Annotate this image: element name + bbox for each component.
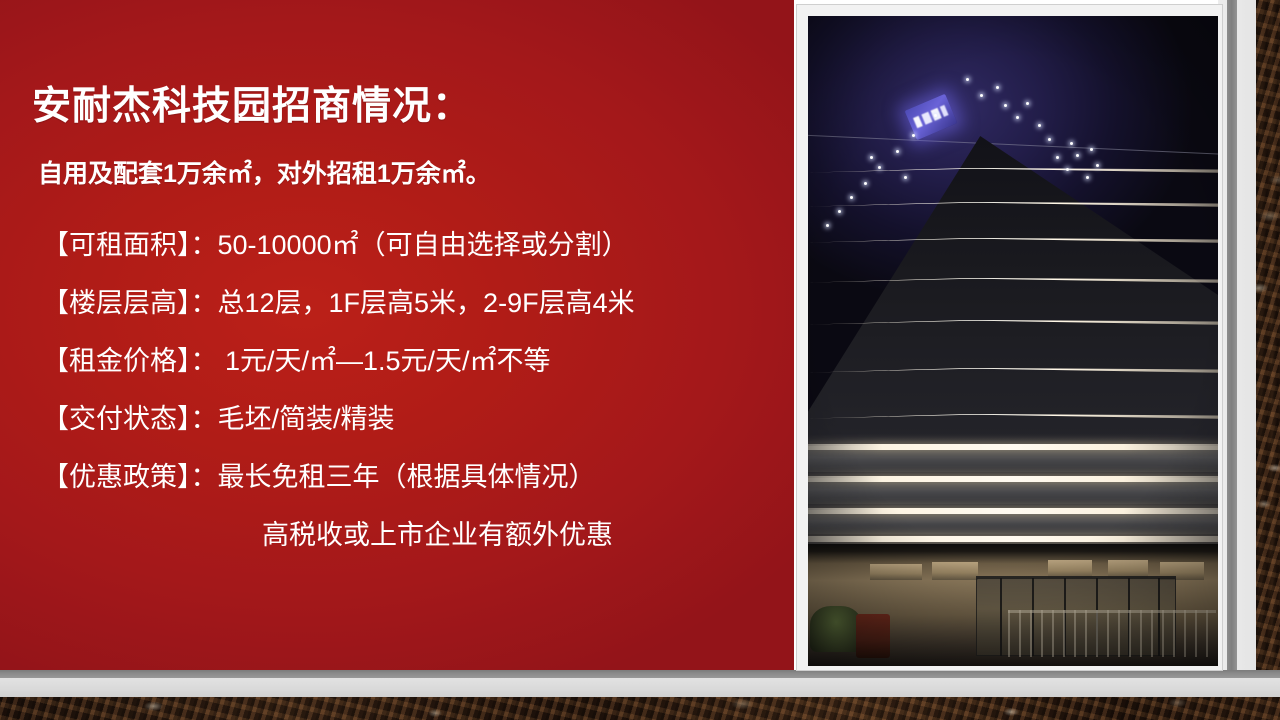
building-night-photo <box>808 16 1218 666</box>
red-content-panel: 安耐杰科技园招商情况： 自用及配套1万余㎡，对外招租1万余㎡。 【可租面积】：5… <box>0 0 794 670</box>
point-light <box>1056 156 1059 159</box>
led-strip <box>808 476 1218 482</box>
point-light <box>1004 104 1007 107</box>
point-light <box>1066 168 1069 171</box>
bottom-light-band <box>0 678 1280 697</box>
right-light-band <box>1218 0 1256 697</box>
list-item: 【租金价格】： 1元/天/㎡—1.5元/天/㎡不等 <box>42 332 782 390</box>
point-light <box>1038 124 1041 127</box>
point-light <box>912 134 915 137</box>
point-light <box>934 114 937 117</box>
led-strip <box>808 536 1218 542</box>
photo-frame <box>797 5 1222 670</box>
list-item: 【楼层层高】：总12层，1F层高5米，2-9F层高4米 <box>42 274 782 332</box>
point-light <box>1016 116 1019 119</box>
page-subtitle: 自用及配套1万余㎡，对外招租1万余㎡。 <box>38 160 491 189</box>
list-item: 高税收或上市企业有额外优惠 <box>42 506 782 564</box>
point-light <box>864 182 867 185</box>
point-light <box>850 196 853 199</box>
point-light <box>996 86 999 89</box>
point-light <box>878 166 881 169</box>
lobby-window <box>932 562 978 580</box>
slide-canvas: 安耐杰科技园招商情况： 自用及配套1万余㎡，对外招租1万余㎡。 【可租面积】：5… <box>0 0 1280 720</box>
point-light <box>826 224 829 227</box>
point-light <box>966 78 969 81</box>
detail-list: 【可租面积】：50-10000㎡（可自由选择或分割） 【楼层层高】：总12层，1… <box>42 216 782 564</box>
point-light <box>896 150 899 153</box>
entrance-railing <box>1008 610 1216 657</box>
point-light <box>870 156 873 159</box>
point-light <box>1096 164 1099 167</box>
parked-vehicle <box>856 614 890 658</box>
lobby-window <box>870 564 922 580</box>
glass-mullion <box>1000 578 1002 656</box>
point-light <box>1070 142 1073 145</box>
page-title: 安耐杰科技园招商情况： <box>32 86 472 129</box>
bottom-gray-divider <box>0 670 1280 678</box>
point-light <box>1048 138 1051 141</box>
list-item: 【交付状态】：毛坯/简装/精装 <box>42 390 782 448</box>
point-light <box>1026 102 1029 105</box>
list-item: 【可租面积】：50-10000㎡（可自由选择或分割） <box>42 216 782 274</box>
background-texture-bottom <box>0 697 1280 720</box>
list-item: 【优惠政策】：最长免租三年（根据具体情况） <box>42 448 782 506</box>
point-light <box>1086 176 1089 179</box>
point-light <box>1090 148 1093 151</box>
planter <box>810 606 862 652</box>
point-light <box>980 94 983 97</box>
led-strip <box>808 508 1218 514</box>
background-texture-right <box>1256 0 1280 720</box>
right-gray-divider <box>1227 0 1237 690</box>
point-light <box>1076 154 1079 157</box>
led-strip <box>808 444 1218 450</box>
point-light <box>838 210 841 213</box>
point-light <box>904 176 907 179</box>
